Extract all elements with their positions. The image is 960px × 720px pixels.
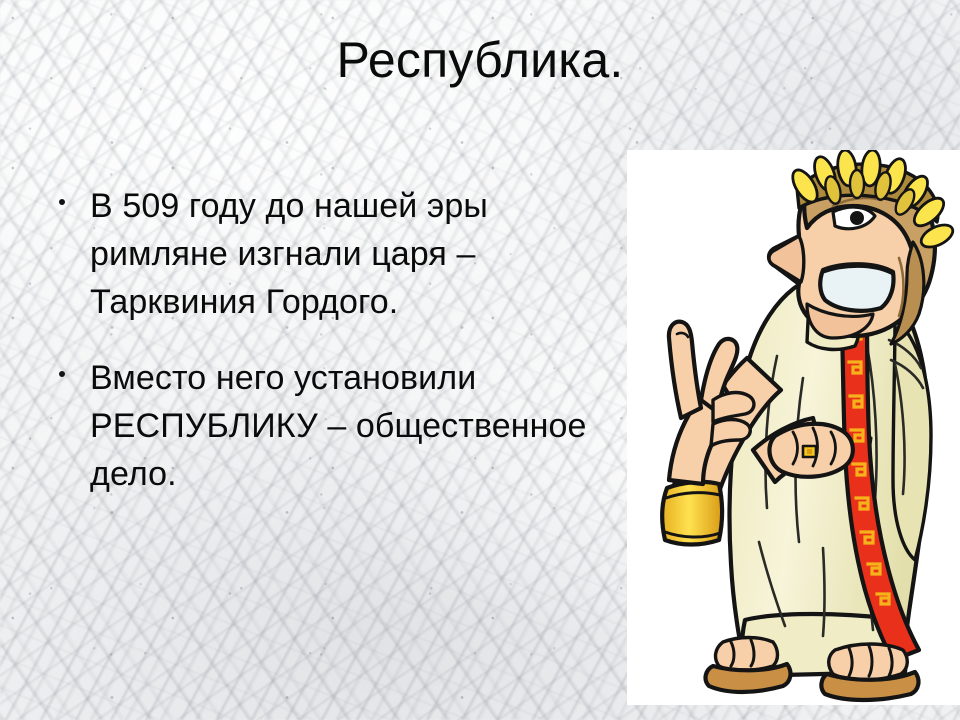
roman-senator-illustration [627,150,960,705]
illustration-frame [627,150,960,705]
list-item: В 509 году до нашей эры римляне изгнали … [52,182,597,326]
list-item: Вместо него установили РЕСПУБЛИКУ – обще… [52,354,597,498]
slide-title: Республика. [0,34,960,87]
bullet-dot-icon [59,371,65,377]
bullet-dot-icon [59,199,65,205]
bullet-list: В 509 году до нашей эры римляне изгнали … [52,182,597,498]
slide: Республика. В 509 году до нашей эры римл… [0,0,960,720]
bullet-text: Вместо него установили РЕСПУБЛИКУ – обще… [90,354,597,498]
bullet-text: В 509 году до нашей эры римляне изгнали … [90,182,597,326]
